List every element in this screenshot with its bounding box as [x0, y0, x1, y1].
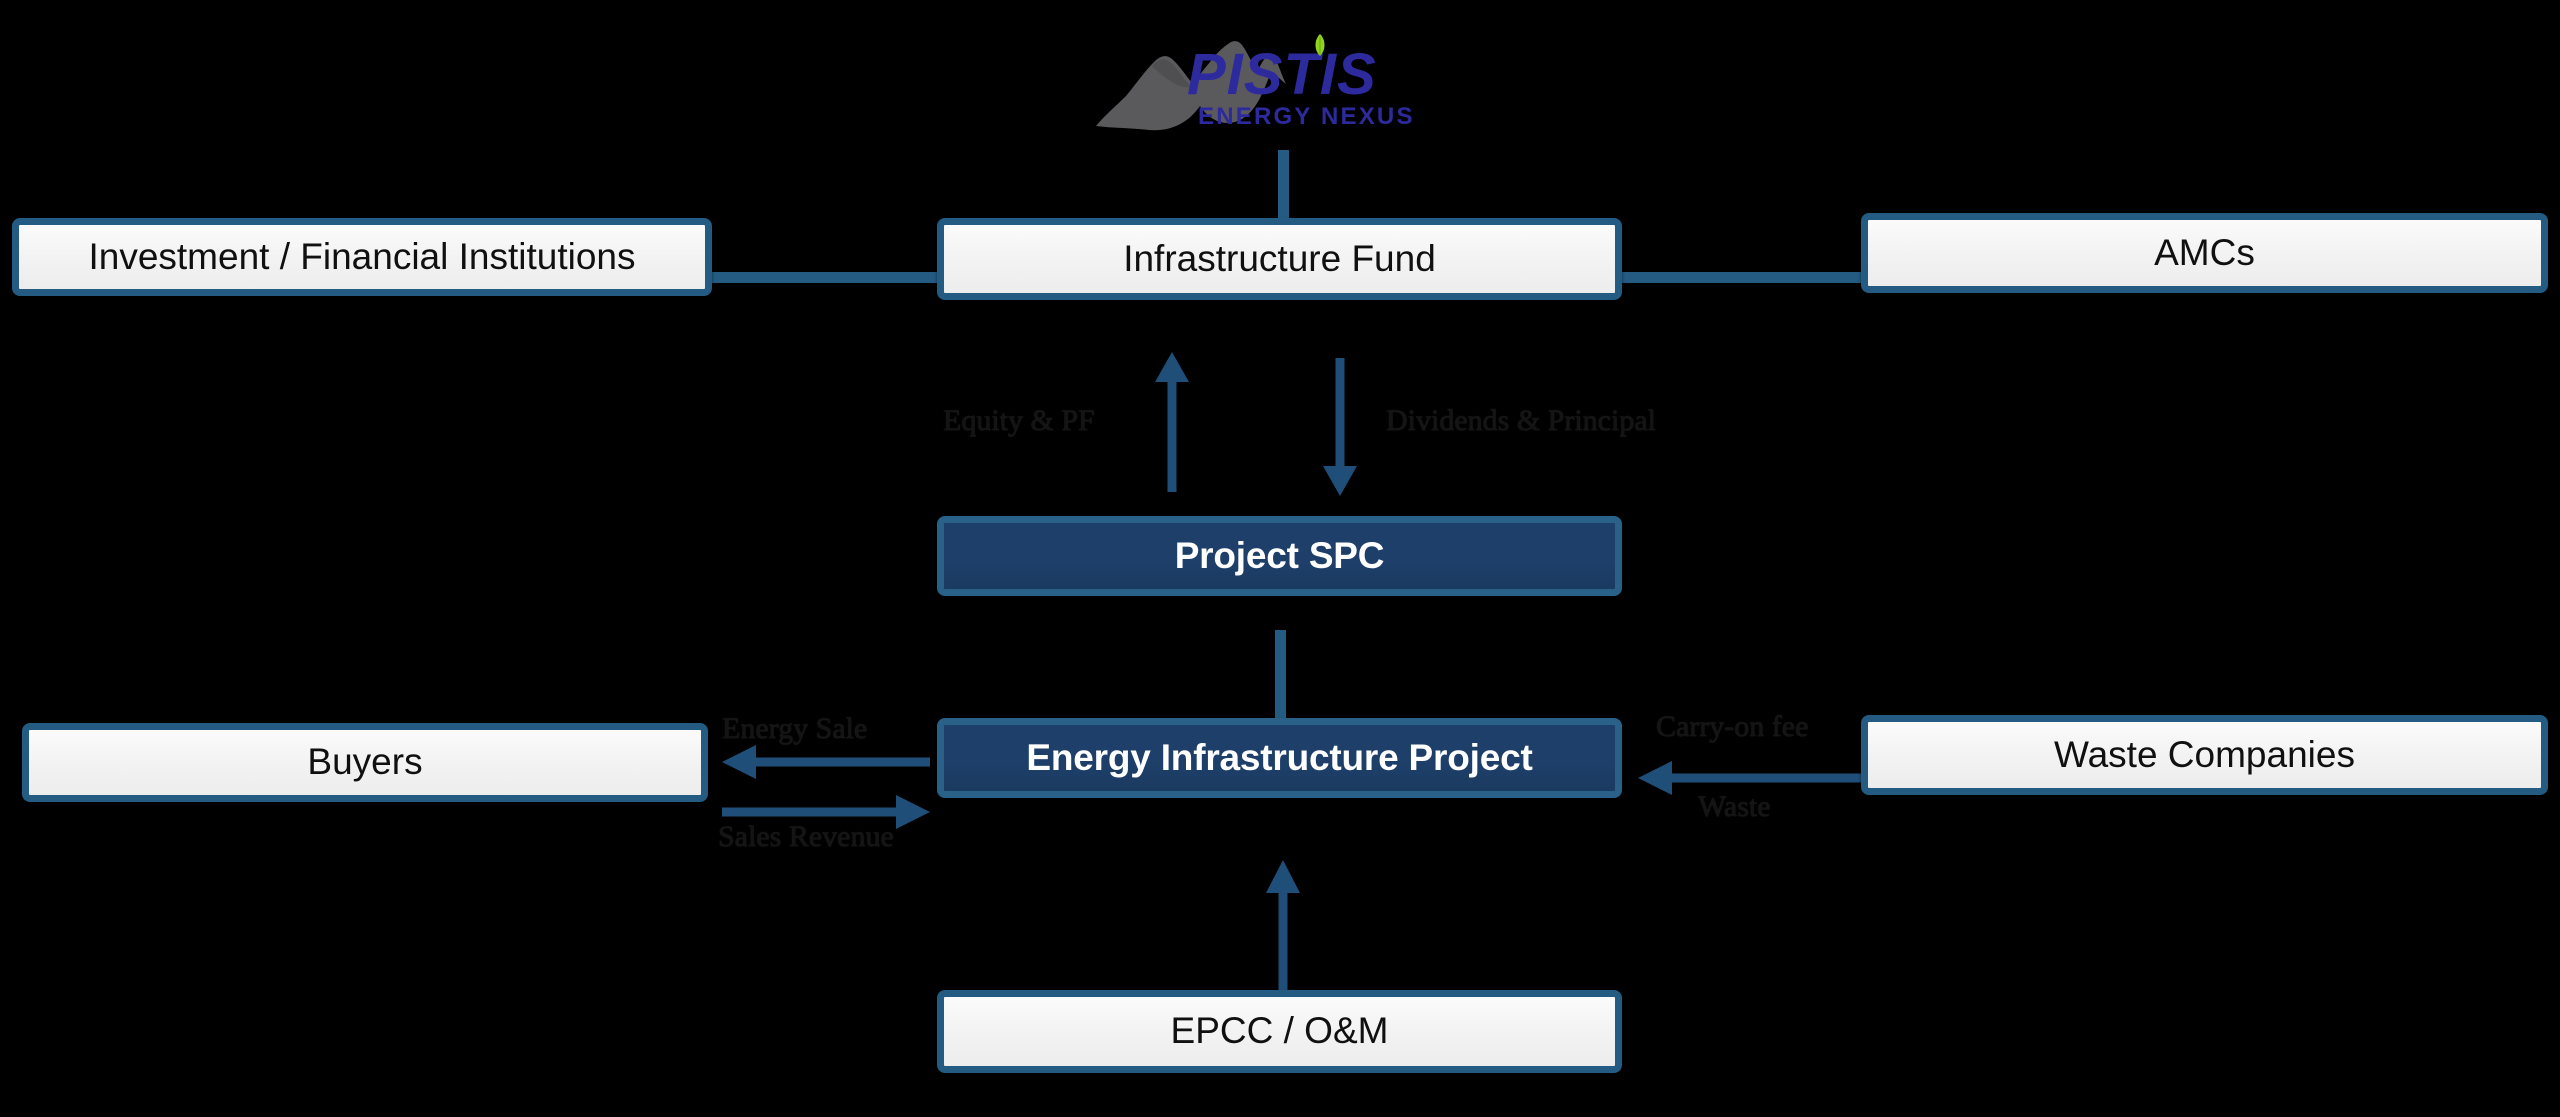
node-label: Project SPC: [944, 535, 1615, 578]
node-label: AMCs: [1868, 232, 2541, 275]
flow-label-energy-sale: Energy Sale: [722, 712, 867, 746]
arrow-dividends-principal: [1323, 358, 1357, 496]
connector-spc-to-project: [1275, 630, 1286, 730]
node-label: Waste Companies: [1868, 734, 2541, 777]
flow-label-dividends-principal: Dividends & Principal: [1386, 404, 1656, 438]
node-label: Infrastructure Fund: [944, 238, 1615, 281]
node-label: EPCC / O&M: [944, 1010, 1615, 1053]
arrow-equity-pf: [1155, 352, 1189, 492]
node-amcs[interactable]: AMCs: [1861, 213, 2548, 293]
connector-investment-to-fund: [700, 272, 940, 283]
node-infrastructure-fund[interactable]: Infrastructure Fund: [937, 218, 1622, 300]
arrow-epcc-to-project: [1266, 860, 1300, 1000]
node-label: Energy Infrastructure Project: [944, 737, 1615, 780]
connector-fund-to-amcs: [1618, 272, 1863, 283]
node-buyers[interactable]: Buyers: [22, 723, 708, 802]
svg-text:PISTIS: PISTIS: [1187, 42, 1377, 107]
flow-label-equity-pf: Equity & PF: [943, 404, 1095, 438]
pistis-energy-nexus-logo: PISTIS ENERGY NEXUS: [1092, 14, 1472, 154]
flow-label-sales-revenue: Sales Revenue: [718, 820, 894, 854]
node-investment-financial-institutions[interactable]: Investment / Financial Institutions: [12, 218, 712, 296]
node-label: Buyers: [29, 741, 701, 784]
node-energy-infrastructure-project[interactable]: Energy Infrastructure Project: [937, 718, 1622, 798]
node-project-spc[interactable]: Project SPC: [937, 516, 1622, 596]
flow-label-waste: Waste: [1698, 790, 1771, 824]
svg-text:ENERGY NEXUS: ENERGY NEXUS: [1198, 103, 1415, 130]
node-epcc-om[interactable]: EPCC / O&M: [937, 990, 1622, 1073]
node-label: Investment / Financial Institutions: [19, 236, 705, 279]
arrow-energy-sale: [722, 745, 930, 779]
connector-logo-to-fund: [1278, 150, 1289, 222]
diagram-canvas: PISTIS ENERGY NEXUS: [0, 0, 2560, 1117]
flow-label-carry-on-fee: Carry-on fee: [1656, 710, 1808, 744]
node-waste-companies[interactable]: Waste Companies: [1861, 715, 2548, 795]
